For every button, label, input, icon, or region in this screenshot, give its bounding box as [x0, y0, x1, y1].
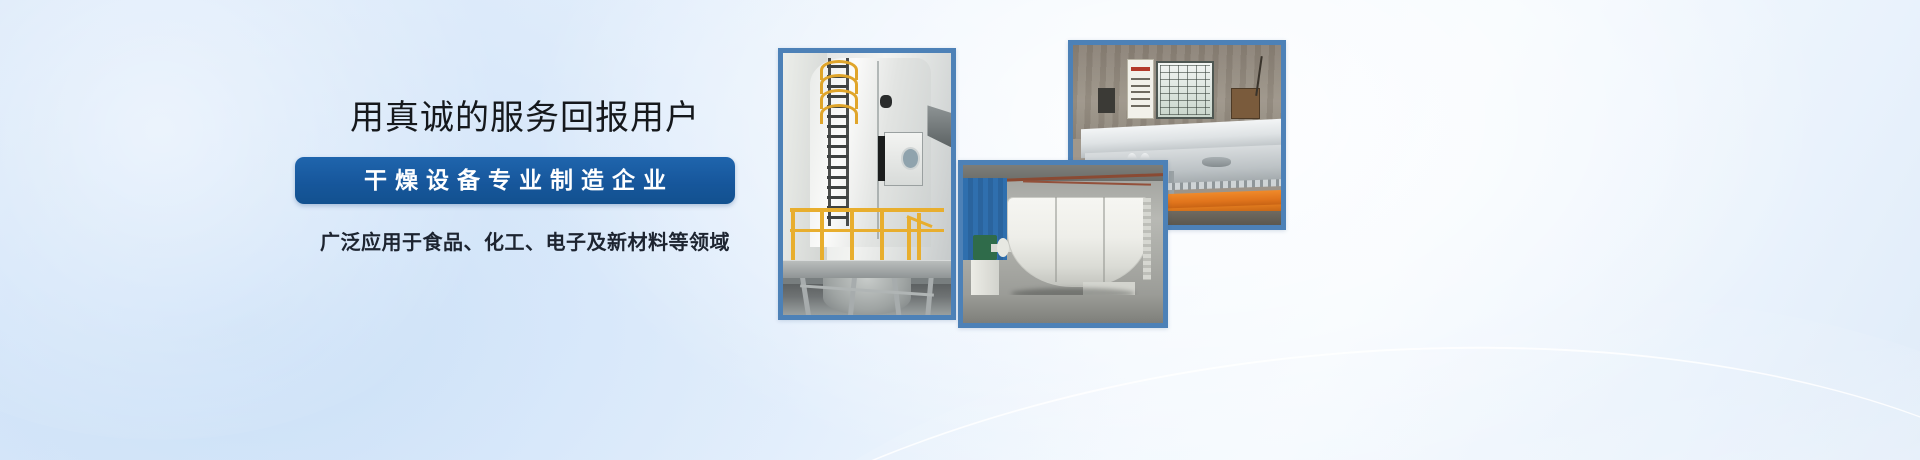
hero-text-block: 用真诚的服务回报用户 干燥设备专业制造企业 广泛应用于食品、化工、电子及新材料等…: [295, 100, 755, 255]
hero-pill-badge: 干燥设备专业制造企业: [295, 157, 735, 204]
wall-sign-graphic: [1127, 59, 1154, 119]
ribbon-mixer-photo: [958, 160, 1168, 328]
hero-banner: 用真诚的服务回报用户 干燥设备专业制造企业 广泛应用于食品、化工、电子及新材料等…: [0, 0, 1920, 460]
background-swoosh-line: [510, 282, 1920, 460]
hero-headline: 用真诚的服务回报用户: [295, 100, 755, 137]
ladder-graphic: [825, 58, 854, 226]
window-graphic: [1156, 61, 1214, 119]
hero-subtitle: 广泛应用于食品、化工、电子及新材料等领域: [295, 226, 755, 255]
spray-dryer-tower-photo: [778, 48, 956, 320]
